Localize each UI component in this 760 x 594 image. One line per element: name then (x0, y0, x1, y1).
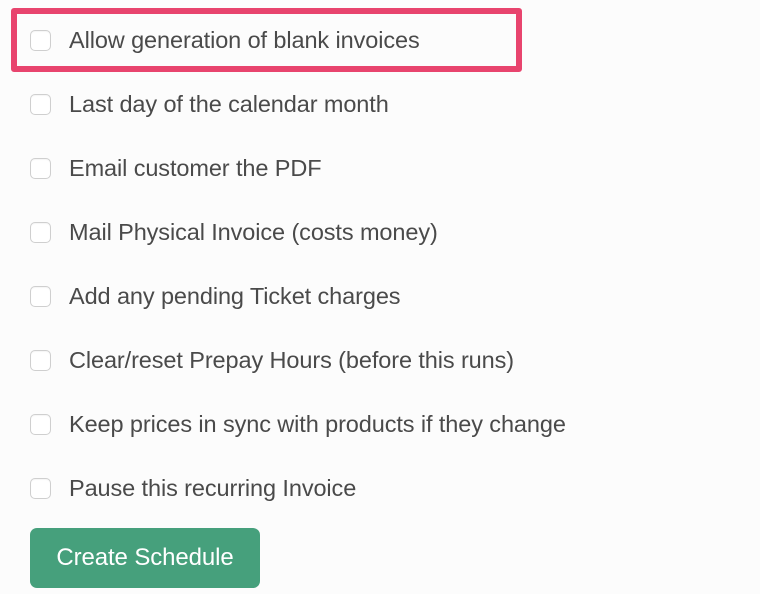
option-row[interactable]: Clear/reset Prepay Hours (before this ru… (0, 328, 514, 392)
checkbox-unchecked-icon[interactable] (30, 414, 51, 435)
checkbox-unchecked-icon[interactable] (30, 94, 51, 115)
option-row[interactable]: Pause this recurring Invoice (0, 456, 356, 520)
option-row[interactable]: Allow generation of blank invoices (0, 8, 420, 72)
checkbox-unchecked-icon[interactable] (30, 350, 51, 371)
option-label: Email customer the PDF (69, 154, 321, 182)
option-label: Last day of the calendar month (69, 90, 389, 118)
option-label: Keep prices in sync with products if the… (69, 410, 566, 438)
option-label: Mail Physical Invoice (costs money) (69, 218, 438, 246)
checkbox-unchecked-icon[interactable] (30, 158, 51, 179)
option-row[interactable]: Keep prices in sync with products if the… (0, 392, 566, 456)
option-row[interactable]: Add any pending Ticket charges (0, 264, 400, 328)
checkbox-unchecked-icon[interactable] (30, 478, 51, 499)
option-label: Pause this recurring Invoice (69, 474, 356, 502)
option-row[interactable]: Email customer the PDF (0, 136, 321, 200)
create-schedule-button[interactable]: Create Schedule (30, 528, 260, 588)
option-row[interactable]: Last day of the calendar month (0, 72, 389, 136)
checkbox-unchecked-icon[interactable] (30, 286, 51, 307)
option-label: Allow generation of blank invoices (69, 26, 420, 54)
option-label: Add any pending Ticket charges (69, 282, 400, 310)
option-label: Clear/reset Prepay Hours (before this ru… (69, 346, 514, 374)
option-row[interactable]: Mail Physical Invoice (costs money) (0, 200, 438, 264)
checkbox-unchecked-icon[interactable] (30, 222, 51, 243)
checkbox-unchecked-icon[interactable] (30, 30, 51, 51)
recurring-invoice-options-panel: Allow generation of blank invoicesLast d… (0, 0, 760, 594)
